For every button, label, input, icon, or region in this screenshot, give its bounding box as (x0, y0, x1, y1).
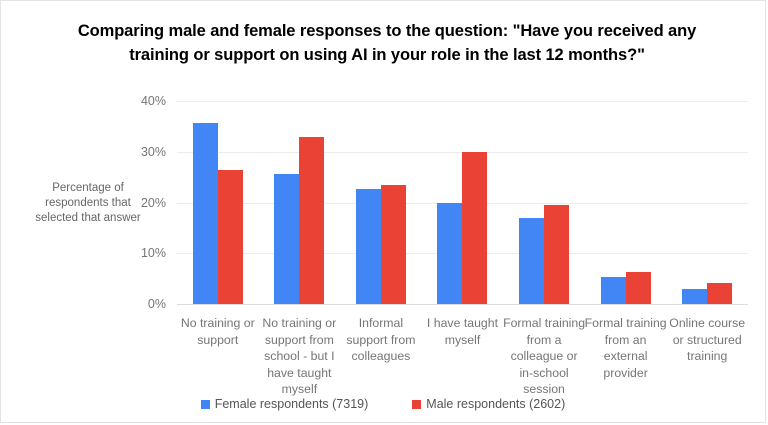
bar-group: Formal training from a colleague or in-s… (503, 101, 585, 304)
bar-male[interactable] (707, 283, 732, 304)
bars (585, 101, 667, 304)
bars (503, 101, 585, 304)
legend-swatch-icon (412, 400, 421, 409)
chart-title: Comparing male and female responses to t… (67, 19, 707, 67)
bars (259, 101, 341, 304)
y-axis-title: Percentage of respondents that selected … (27, 181, 149, 226)
chart-card: Comparing male and female responses to t… (0, 0, 766, 423)
bars (422, 101, 504, 304)
y-axis-tick-label: 40% (141, 94, 166, 108)
bar-female[interactable] (193, 123, 218, 304)
bar-female[interactable] (519, 218, 544, 304)
bars (666, 101, 748, 304)
y-axis-tick-label: 20% (141, 196, 166, 210)
bar-female[interactable] (682, 289, 707, 304)
bar-group: I have taught myself (422, 101, 504, 304)
y-axis-tick-label: 0% (148, 297, 166, 311)
bars (340, 101, 422, 304)
y-axis-tick-label: 10% (141, 246, 166, 260)
bar-female[interactable] (274, 174, 299, 304)
bars (177, 101, 259, 304)
bar-male[interactable] (218, 170, 243, 304)
plot-area: 0%10%20%30%40% No training or supportNo … (177, 101, 748, 304)
legend-swatch-icon (201, 400, 210, 409)
x-axis-tick-label: No training or support from school - but… (258, 315, 340, 398)
x-axis-tick-label: Online course or structured training (666, 315, 748, 365)
x-axis-tick-label: Formal training from an external provide… (585, 315, 667, 381)
bar-group: Informal support from colleagues (340, 101, 422, 304)
bar-male[interactable] (299, 137, 324, 304)
legend-label: Male respondents (2602) (426, 397, 565, 411)
bar-male[interactable] (544, 205, 569, 304)
bar-male[interactable] (626, 272, 651, 304)
bar-female[interactable] (437, 203, 462, 305)
bar-male[interactable] (381, 185, 406, 304)
x-axis-tick-label: Informal support from colleagues (340, 315, 422, 365)
legend-item[interactable]: Male respondents (2602) (412, 397, 565, 411)
x-axis-tick-label: Formal training from a colleague or in-s… (503, 315, 585, 398)
bar-group: Online course or structured training (666, 101, 748, 304)
legend-item[interactable]: Female respondents (7319) (201, 397, 369, 411)
legend-label: Female respondents (7319) (215, 397, 369, 411)
bar-female[interactable] (356, 189, 381, 304)
x-axis-tick-label: I have taught myself (421, 315, 503, 348)
chart-legend: Female respondents (7319)Male respondent… (1, 397, 765, 411)
gridline (177, 304, 748, 305)
bar-group: No training or support from school - but… (259, 101, 341, 304)
bar-male[interactable] (462, 152, 487, 304)
x-axis-tick-label: No training or support (177, 315, 259, 348)
y-axis-tick-label: 30% (141, 145, 166, 159)
bar-female[interactable] (601, 277, 626, 304)
bar-group: Formal training from an external provide… (585, 101, 667, 304)
bar-group: No training or support (177, 101, 259, 304)
